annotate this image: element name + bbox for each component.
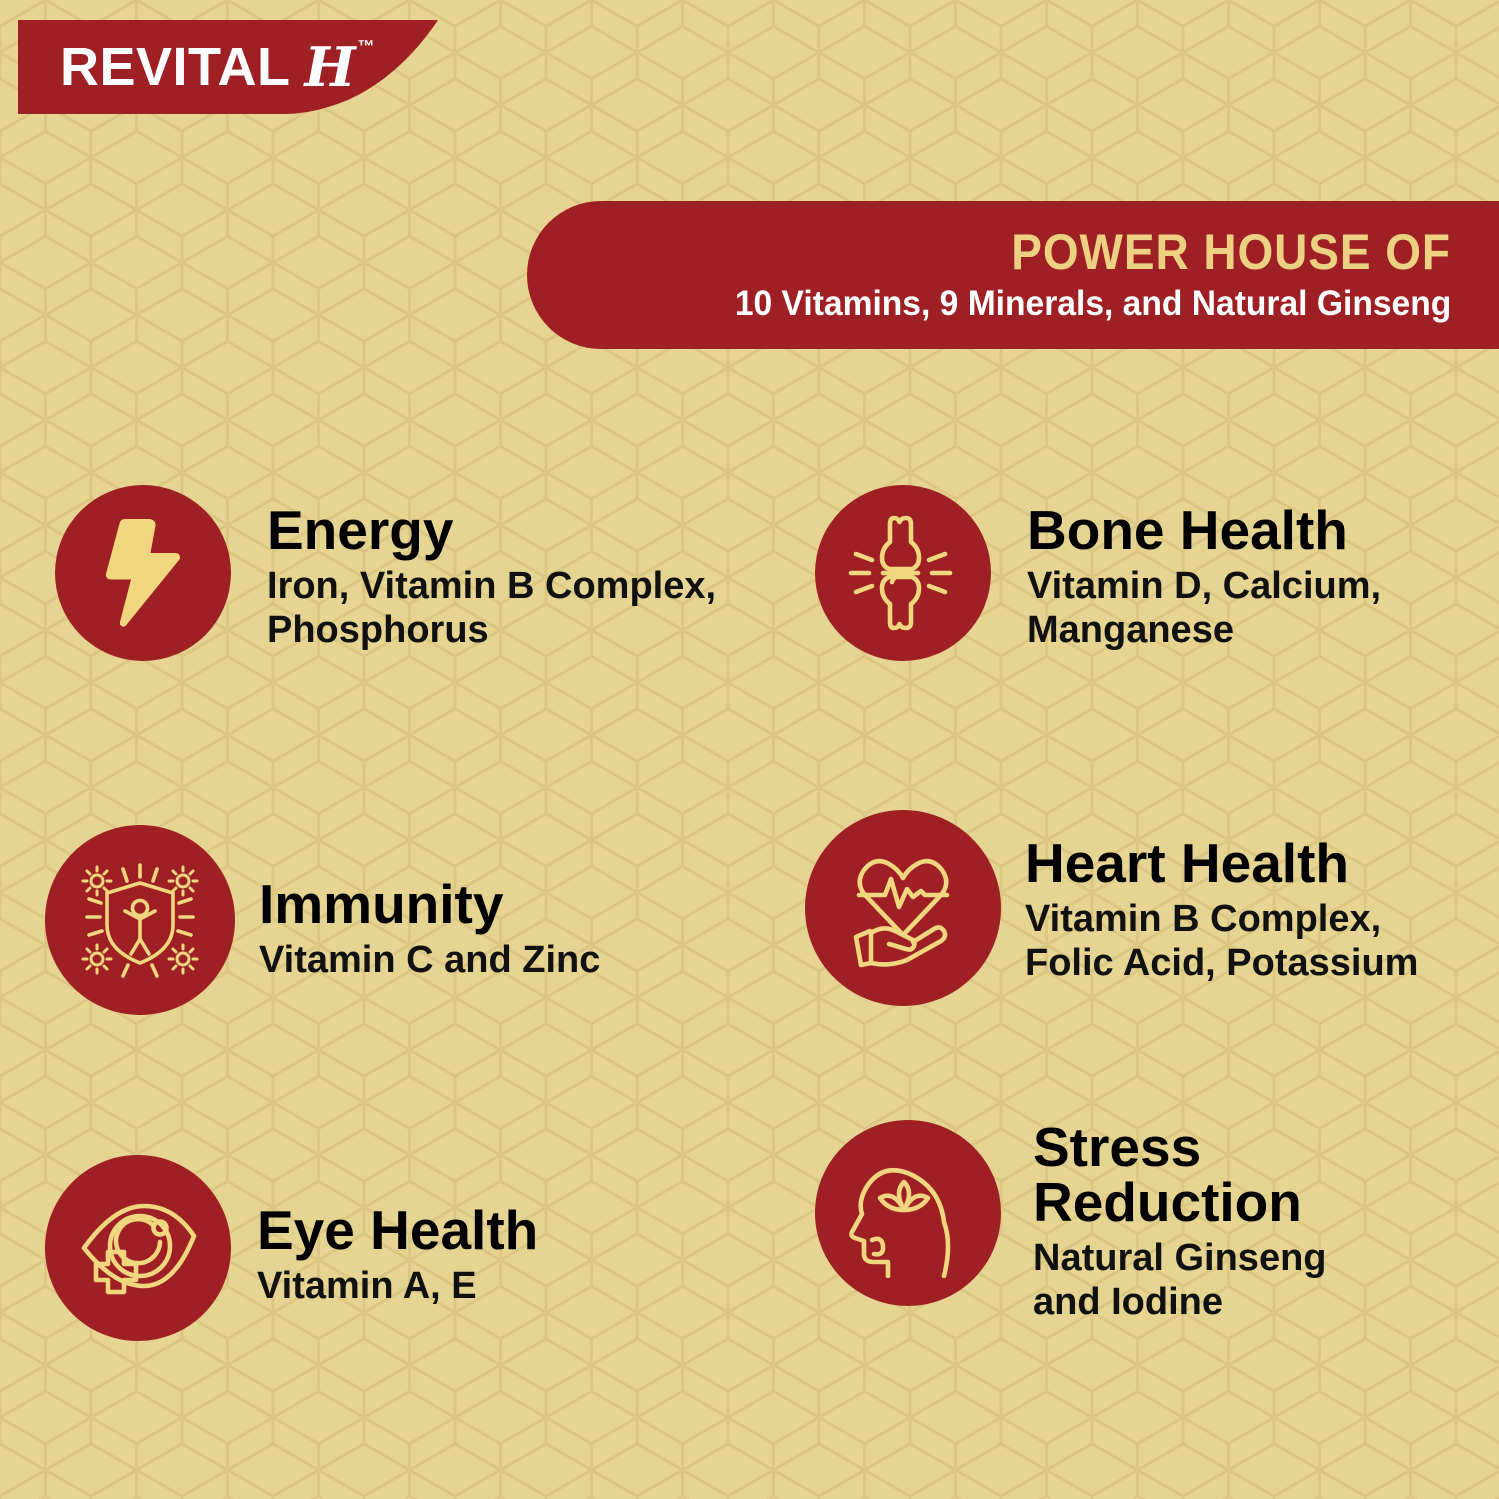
benefit-nutrients: Natural Ginseng and Iodine [1033, 1236, 1327, 1324]
benefit-nutrients: Vitamin B Complex, Folic Acid, Potassium [1025, 897, 1418, 985]
benefit-item-bone-health[interactable]: Bone Health Vitamin D, Calcium, Manganes… [815, 485, 1381, 661]
shield-person-icon [75, 855, 205, 985]
benefit-icon-badge [805, 810, 1001, 1006]
logo-text: REVITAL H ™ [60, 20, 375, 114]
benefit-icon-badge [815, 485, 991, 661]
hand-heart-pulse-icon [837, 845, 969, 971]
benefit-item-heart-health[interactable]: Heart Health Vitamin B Complex, Folic Ac… [805, 810, 1418, 1006]
benefit-nutrients: Vitamin C and Zinc [259, 938, 600, 982]
benefit-icon-badge [45, 1155, 231, 1341]
header-title: POWER HOUSE OF [1011, 226, 1451, 279]
infographic-poster: REVITAL H ™ POWER HOUSE OF 10 Vitamins, … [0, 0, 1499, 1499]
benefit-title: Eye Health [257, 1203, 538, 1258]
benefit-title: Energy [267, 503, 716, 558]
benefit-title: Stress Reduction [1033, 1120, 1327, 1230]
benefit-text-block: Eye Health Vitamin A, E [257, 1155, 538, 1308]
benefit-text-block: Immunity Vitamin C and Zinc [259, 825, 600, 982]
benefit-nutrients: Iron, Vitamin B Complex, Phosphorus [267, 564, 716, 652]
benefit-item-stress-reduction[interactable]: Stress Reduction Natural Ginseng and Iod… [815, 1120, 1327, 1324]
benefit-icon-badge [815, 1120, 1001, 1306]
benefit-nutrients: Vitamin A, E [257, 1264, 538, 1308]
benefit-title: Heart Health [1025, 836, 1418, 891]
benefit-text-block: Stress Reduction Natural Ginseng and Iod… [1033, 1120, 1327, 1324]
benefit-title: Bone Health [1027, 503, 1381, 558]
logo-wordmark: REVITAL [60, 40, 291, 94]
lightning-bolt-icon [95, 517, 191, 629]
header-subtitle: 10 Vitamins, 9 Minerals, and Natural Gin… [735, 284, 1451, 324]
logo-trademark-icon: ™ [358, 37, 375, 57]
benefit-text-block: Heart Health Vitamin B Complex, Folic Ac… [1025, 810, 1418, 985]
header-banner: POWER HOUSE OF 10 Vitamins, 9 Minerals, … [527, 201, 1499, 349]
logo-h-script: H [305, 40, 356, 94]
benefit-title: Immunity [259, 877, 600, 932]
benefit-icon-badge [45, 825, 235, 1015]
benefit-text-block: Bone Health Vitamin D, Calcium, Manganes… [1027, 485, 1381, 652]
benefits-grid: Energy Iron, Vitamin B Complex, Phosphor… [0, 455, 1499, 1465]
benefit-item-immunity[interactable]: Immunity Vitamin C and Zinc [45, 825, 600, 1015]
benefit-text-block: Energy Iron, Vitamin B Complex, Phosphor… [267, 485, 716, 652]
benefit-item-eye-health[interactable]: Eye Health Vitamin A, E [45, 1155, 538, 1341]
bone-joint-icon [842, 512, 964, 634]
brand-logo[interactable]: REVITAL H ™ [18, 20, 438, 114]
benefit-nutrients: Vitamin D, Calcium, Manganese [1027, 564, 1381, 652]
eye-medical-cross-icon [74, 1190, 202, 1306]
benefit-icon-badge [55, 485, 231, 661]
head-leaf-icon [848, 1148, 968, 1278]
benefit-item-energy[interactable]: Energy Iron, Vitamin B Complex, Phosphor… [55, 485, 716, 661]
